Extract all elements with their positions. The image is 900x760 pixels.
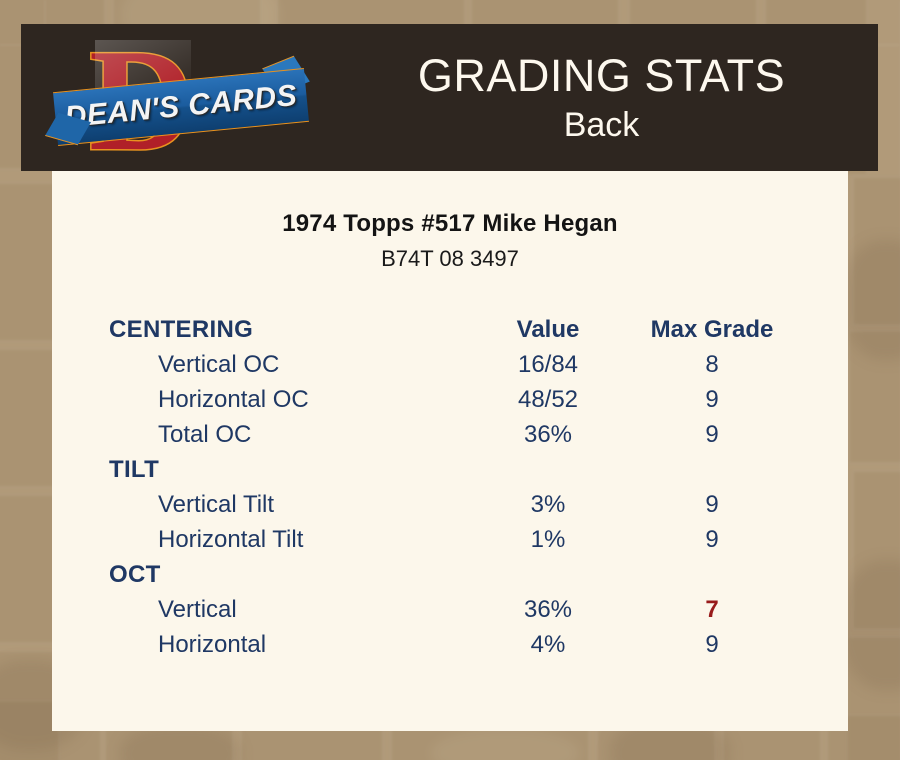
table-row: Horizontal Tilt1%9 [106, 522, 794, 557]
stats-table-body: Vertical OC16/848Horizontal OC48/529Tota… [106, 347, 794, 662]
header-bar: D DEAN'S CARDS GRADING STATS Back [21, 24, 878, 171]
table-row: Vertical OC16/848 [106, 347, 794, 382]
row-value: 36% [466, 592, 630, 627]
row-max-grade: 9 [630, 627, 794, 662]
table-header-row: CENTERING Value Max Grade [106, 312, 794, 347]
row-label: Horizontal OC [106, 382, 466, 417]
table-row: Vertical36%7 [106, 592, 794, 627]
row-label: Total OC [106, 417, 466, 452]
column-header-max-grade: Max Grade [630, 312, 794, 347]
row-max-grade-flagged: 7 [630, 592, 794, 627]
section-header-row: OCT [106, 557, 794, 592]
row-value: 16/84 [466, 347, 630, 382]
table-row: Horizontal OC48/529 [106, 382, 794, 417]
row-max-grade: 9 [630, 417, 794, 452]
deans-cards-logo[interactable]: D DEAN'S CARDS [55, 28, 305, 170]
page-subtitle: Back [564, 104, 640, 146]
header-title-block: GRADING STATS Back [321, 24, 878, 171]
row-max-grade: 9 [630, 487, 794, 522]
row-value: 4% [466, 627, 630, 662]
section-header-row: TILT [106, 452, 794, 487]
row-max-grade: 9 [630, 522, 794, 557]
row-label: Vertical [106, 592, 466, 627]
row-label: Horizontal [106, 627, 466, 662]
row-value: 36% [466, 417, 630, 452]
row-max-grade: 9 [630, 382, 794, 417]
table-row: Vertical Tilt3%9 [106, 487, 794, 522]
column-header-value: Value [466, 312, 630, 347]
row-max-grade: 8 [630, 347, 794, 382]
row-label: Horizontal Tilt [106, 522, 466, 557]
logo-ribbon-text: DEAN'S CARDS [63, 79, 298, 135]
section-header-label: TILT [106, 452, 794, 487]
grading-stats-table: CENTERING Value Max Grade Vertical OC16/… [106, 312, 794, 662]
row-value: 48/52 [466, 382, 630, 417]
table-row: Horizontal4%9 [106, 627, 794, 662]
table-row: Total OC36%9 [106, 417, 794, 452]
card-title: 1974 Topps #517 Mike Hegan [52, 210, 848, 238]
page-title: GRADING STATS [418, 50, 785, 102]
row-value: 3% [466, 487, 630, 522]
stats-table-head: CENTERING Value Max Grade [106, 312, 794, 347]
row-label: Vertical Tilt [106, 487, 466, 522]
section-header-label: OCT [106, 557, 794, 592]
row-value: 1% [466, 522, 630, 557]
card-serial-number: B74T 08 3497 [52, 246, 848, 272]
column-header-centering: CENTERING [106, 312, 466, 347]
row-label: Vertical OC [106, 347, 466, 382]
content-panel: 1974 Topps #517 Mike Hegan B74T 08 3497 … [52, 171, 848, 731]
